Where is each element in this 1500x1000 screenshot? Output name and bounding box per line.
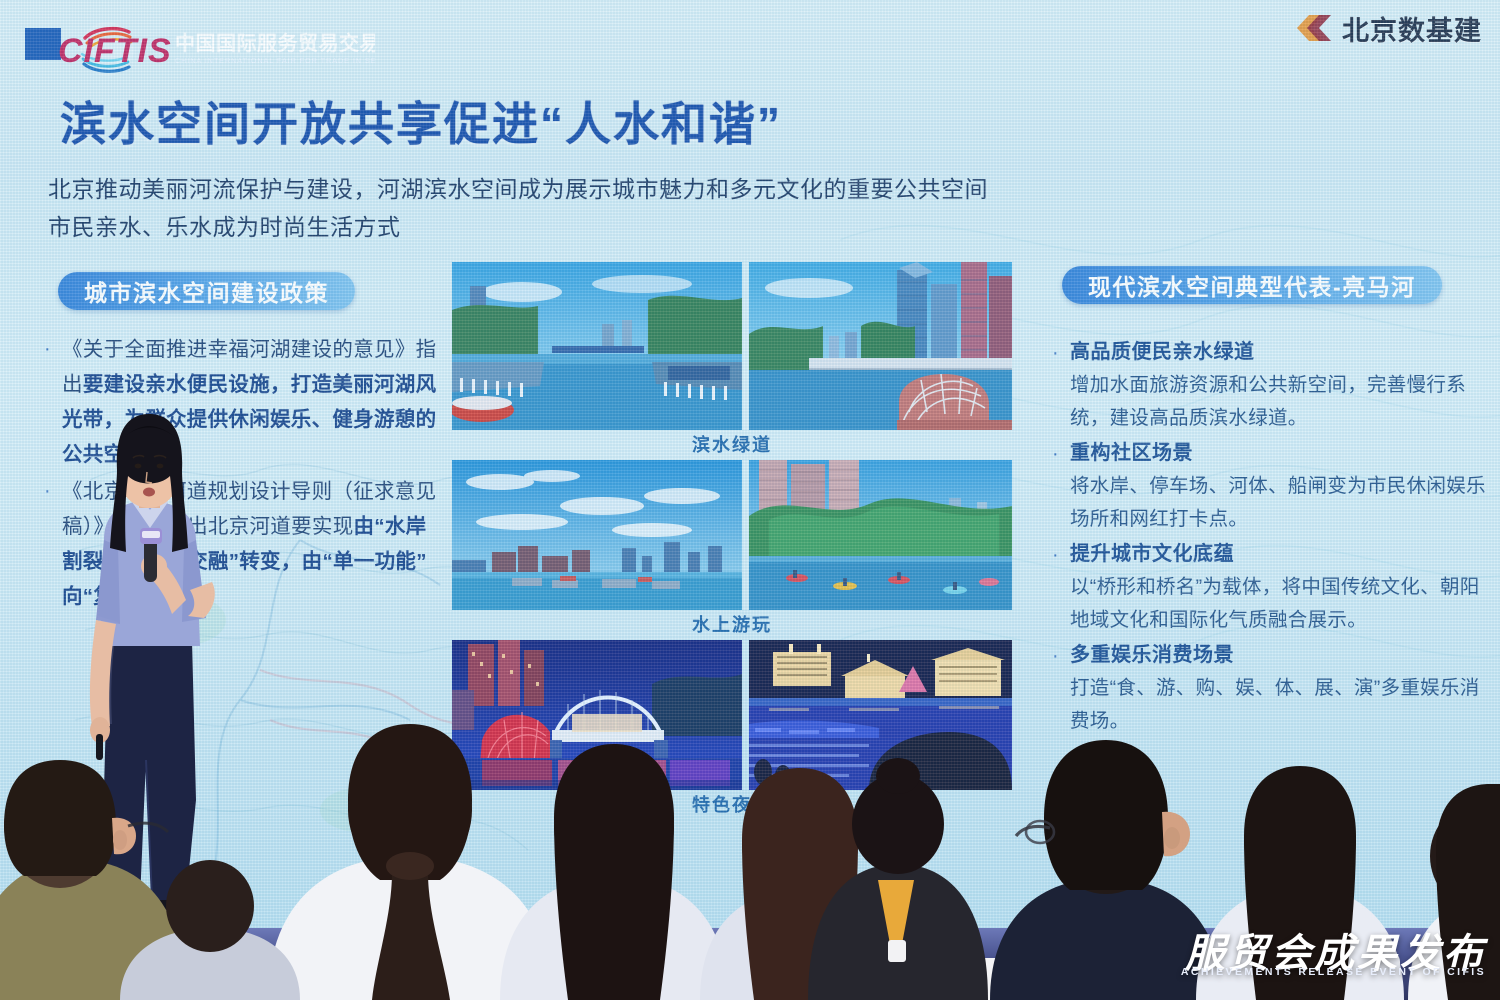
slide-subtitle: 北京推动美丽河流保护与建设，河湖滨水空间成为展示城市魅力和多元文化的重要公共空间… (48, 170, 1048, 246)
broadcast-watermark: 服贸会成果发布 ACHIEVEMENTS RELEASE EVENT OF CI… (1181, 933, 1486, 978)
right-bullet-2-head: 重构社区场景 (1070, 437, 1490, 470)
grid-image-dome-sculpture (749, 262, 1012, 430)
image-grid-row (452, 262, 1012, 430)
bullet-dot-icon: · (1052, 639, 1062, 738)
bullet-dot-icon: · (1052, 538, 1062, 637)
right-bullet-3-body: 以“桥形和桥名”为载体，将中国传统文化、朝阳地域文化和国际化气质融合展示。 (1070, 571, 1490, 637)
grid-caption-2: 水上游玩 (452, 610, 1012, 640)
slide-subtitle-line-2: 市民亲水、乐水成为时尚生活方式 (48, 208, 1048, 246)
ciftis-name-cn: 中国国际服务贸易交易会 (175, 31, 375, 55)
list-item: · 多重娱乐消费场景 打造“食、游、购、娱、体、展、演”多重娱乐消费场。 (1052, 639, 1490, 738)
bullet-dot-icon: · (44, 332, 54, 472)
slide-title: 滨水空间开放共享促进“人水和谐” (60, 88, 782, 154)
grid-image-kayaking (749, 460, 1012, 610)
left-panel-heading: 城市滨水空间建设政策 (58, 272, 355, 310)
image-grid-row (452, 460, 1012, 610)
led-presentation-screen: CIFTIS 中国国际服务贸易交易会 CHINA INTERNATIONAL F… (0, 0, 1500, 930)
grid-image-river-skyline (452, 460, 742, 610)
screenshot-root: CIFTIS 中国国际服务贸易交易会 CHINA INTERNATIONAL F… (0, 0, 1500, 1000)
left-panel-body: · 《关于全面推进幸福河湖建设的意见》指出要建设亲水便民设施，打造美丽河湖风光带… (44, 332, 444, 616)
svg-text:CIFTIS: CIFTIS (58, 32, 172, 70)
right-bullet-1-head: 高品质便民亲水绿道 (1070, 336, 1490, 369)
watermark-title-en: ACHIEVEMENTS RELEASE EVENT OF CIFIS (1181, 966, 1486, 978)
list-item: · 《关于全面推进幸福河湖建设的意见》指出要建设亲水便民设施，打造美丽河湖风光带… (44, 332, 444, 472)
right-panel-body: · 高品质便民亲水绿道 增加水面旅游资源和公共新空间，完善慢行系统，建设高品质滨… (1052, 336, 1490, 740)
image-grid-row (452, 640, 1012, 790)
grid-image-night-waterfront (749, 640, 1012, 790)
partner-logo: 北京数基建 (1293, 8, 1482, 48)
right-bullet-4-head: 多重娱乐消费场景 (1070, 639, 1490, 672)
list-item: · 提升城市文化底蕴 以“桥形和桥名”为载体，将中国传统文化、朝阳地域文化和国际… (1052, 538, 1490, 637)
slide-subtitle-line-1: 北京推动美丽河流保护与建设，河湖滨水空间成为展示城市魅力和多元文化的重要公共空间 (48, 170, 1048, 208)
grid-image-night-arch-bridge (452, 640, 742, 790)
left-bullet-1-bold: 要建设亲水便民设施，打造美丽河湖风光带，为群众提供休闲娱乐、健身游憩的公共空间。 (62, 373, 436, 466)
bullet-dot-icon: · (44, 474, 54, 614)
grid-caption-1: 滨水绿道 (452, 430, 1012, 460)
partner-mark-icon (1293, 10, 1333, 46)
ciftis-logo: CIFTIS 中国国际服务贸易交易会 CHINA INTERNATIONAL F… (25, 18, 375, 80)
list-item: · 高品质便民亲水绿道 增加水面旅游资源和公共新空间，完善慢行系统，建设高品质滨… (1052, 336, 1490, 435)
ciftis-name-en: CHINA INTERNATIONAL FAIR FOR TRADE IN SE… (175, 56, 375, 65)
grid-image-riverside-greenway (452, 262, 742, 430)
image-grid: 滨水绿道 (452, 262, 1012, 820)
list-item: · 重构社区场景 将水岸、停车场、河体、船闸变为市民休闲娱乐场所和网红打卡点。 (1052, 437, 1490, 536)
bullet-dot-icon: · (1052, 336, 1062, 435)
grid-caption-3: 特色夜景 (452, 790, 1012, 820)
right-bullet-1-body: 增加水面旅游资源和公共新空间，完善慢行系统，建设高品质滨水绿道。 (1070, 369, 1490, 435)
partner-logo-text: 北京数基建 (1342, 9, 1482, 48)
list-item: · 《北京城市河道规划设计导则（征求意见稿）》，明确提出北京河道要实现由“水岸割… (44, 474, 444, 614)
right-bullet-2-body: 将水岸、停车场、河体、船闸变为市民休闲娱乐场所和网红打卡点。 (1070, 470, 1490, 536)
right-panel-heading: 现代滨水空间典型代表-亮马河 (1062, 266, 1442, 304)
right-bullet-4-body: 打造“食、游、购、娱、体、展、演”多重娱乐消费场。 (1070, 672, 1490, 738)
right-bullet-3-head: 提升城市文化底蕴 (1070, 538, 1490, 571)
bullet-dot-icon: · (1052, 437, 1062, 536)
